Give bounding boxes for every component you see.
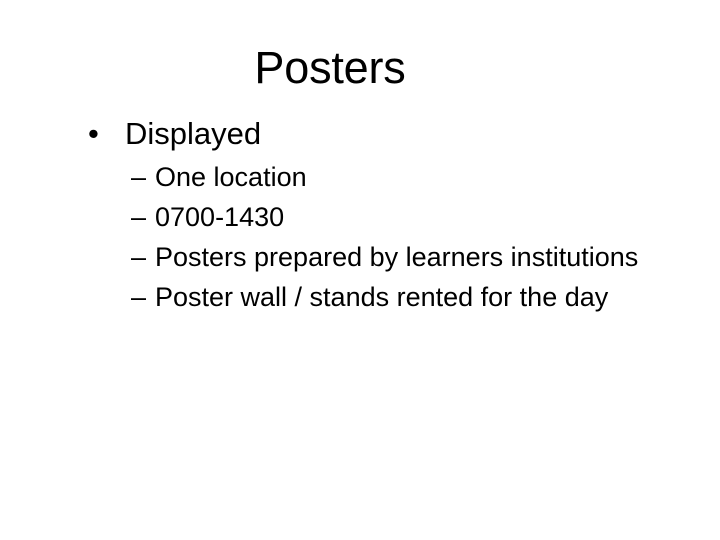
sub-bullet-group: – One location – 0700-1430 – Posters pre… [0, 157, 720, 317]
dash-marker-icon: – [131, 237, 146, 277]
page-title: Posters [48, 42, 612, 94]
bullet-list-level2: – One location – 0700-1430 – Posters pre… [0, 157, 720, 317]
bullet-label: Displayed [125, 116, 261, 151]
sub-bullet-item-prepared-by: – Posters prepared by learners instituti… [0, 237, 720, 277]
bullet-item-displayed: • Displayed [0, 113, 720, 154]
sub-bullet-label: One location [155, 162, 307, 192]
sub-bullet-item-times: – 0700-1430 [0, 197, 720, 237]
slide-content-body: • Displayed – One location – 0700-1430 – [0, 113, 720, 317]
dash-marker-icon: – [131, 197, 146, 237]
bullet-list-level1: • Displayed – One location – 0700-1430 – [0, 113, 720, 317]
presentation-slide: Posters • Displayed – One location – 070… [0, 0, 720, 540]
dash-marker-icon: – [131, 157, 146, 197]
sub-bullet-label: 0700-1430 [155, 202, 284, 232]
bullet-marker-icon: • [88, 113, 99, 154]
sub-bullet-item-one-location: – One location [0, 157, 720, 197]
sub-bullet-label: Posters prepared by learners institution… [155, 242, 638, 272]
sub-bullet-label: Poster wall / stands rented for the day [155, 282, 608, 312]
sub-bullet-item-poster-wall: – Poster wall / stands rented for the da… [0, 277, 720, 317]
dash-marker-icon: – [131, 277, 146, 317]
